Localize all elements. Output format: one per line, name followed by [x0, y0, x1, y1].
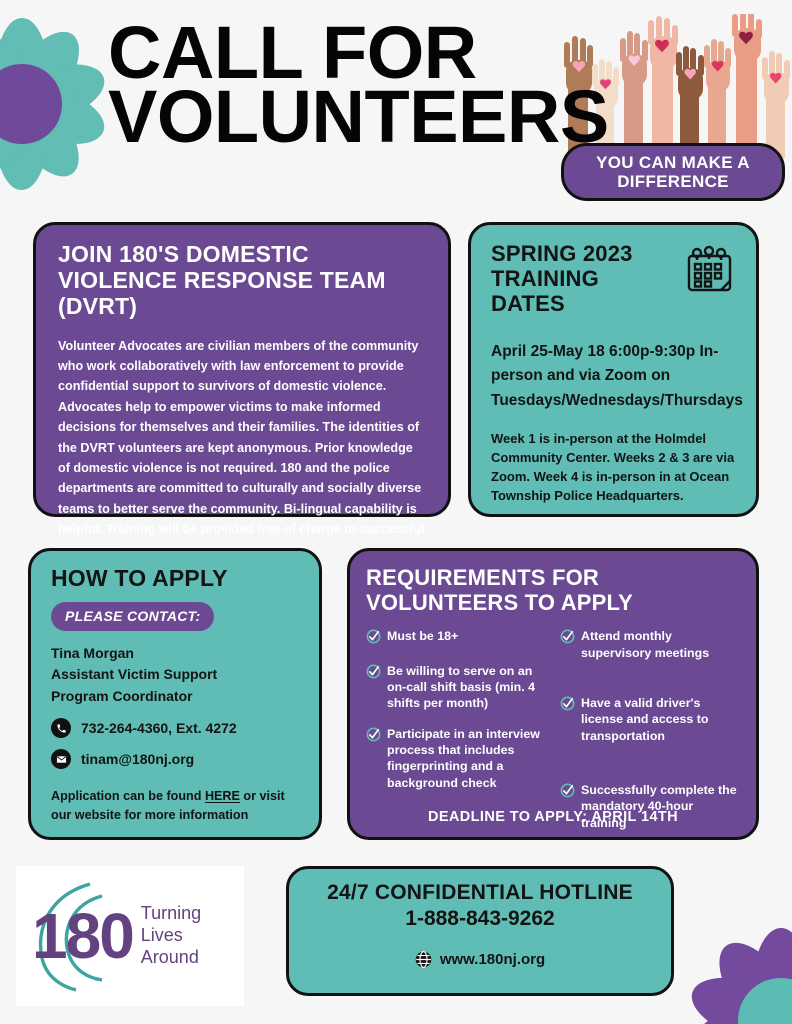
hotline-card: 24/7 CONFIDENTIAL HOTLINE 1-888-843-9262… — [286, 866, 674, 996]
requirement-item: Attend monthly supervisory meetings — [560, 628, 740, 661]
volunteer-flyer: CALL FOR VOLUNTEERS — [0, 0, 792, 1024]
application-link[interactable]: HERE — [205, 789, 240, 803]
check-circle-icon — [560, 783, 575, 802]
requirements-card: REQUIREMENTS FOR VOLUNTEERS TO APPLY Mus… — [347, 548, 759, 840]
apply-title: HOW TO APPLY — [51, 565, 299, 591]
teal-flower-decoration — [0, 18, 108, 190]
calendar-icon — [684, 245, 736, 300]
dvrt-card: JOIN 180'S DOMESTIC VIOLENCE RESPONSE TE… — [33, 222, 451, 517]
email-address: tinam@180nj.org — [81, 751, 194, 767]
please-contact-pill: PLEASE CONTACT: — [51, 602, 214, 631]
badge-line-2: DIFFERENCE — [617, 172, 729, 191]
logo-number: 180 — [32, 904, 133, 968]
contact-person-name: Tina Morgan — [51, 643, 299, 664]
phone-icon — [51, 718, 71, 738]
hotline-title: 24/7 CONFIDENTIAL HOTLINE — [299, 881, 661, 905]
training-schedule: April 25-May 18 6:00p-9:30p In-person an… — [491, 340, 736, 413]
check-circle-icon — [560, 696, 575, 715]
globe-icon — [415, 951, 432, 968]
phone-row[interactable]: 732-264-4360, Ext. 4272 — [51, 718, 299, 738]
check-circle-icon — [366, 727, 381, 746]
contact-details: Tina Morgan Assistant Victim Support Pro… — [51, 643, 299, 707]
check-circle-icon — [366, 664, 381, 683]
hotline-number: 1-888-843-9262 — [299, 907, 661, 931]
contact-job-title-line-1: Assistant Victim Support — [51, 664, 299, 685]
purple-flower-decoration — [688, 928, 792, 1024]
application-note-before: Application can be found — [51, 789, 205, 803]
requirement-text: Attend monthly supervisory meetings — [581, 628, 740, 661]
requirement-text: Must be 18+ — [387, 628, 458, 644]
deadline-text: DEADLINE TO APPLY: APRIL 14TH — [350, 809, 756, 825]
requirement-text: Be willing to serve on an on-call shift … — [387, 663, 546, 712]
check-circle-icon — [366, 629, 381, 648]
contact-job-title-line-2: Program Coordinator — [51, 686, 299, 707]
requirement-item: Participate in an interview process that… — [366, 726, 546, 792]
difference-badge: YOU CAN MAKE A DIFFERENCE — [561, 143, 785, 201]
requirement-item: Be willing to serve on an on-call shift … — [366, 663, 546, 712]
badge-line-1: YOU CAN MAKE A — [596, 153, 750, 172]
dvrt-title: JOIN 180'S DOMESTIC VIOLENCE RESPONSE TE… — [58, 241, 426, 320]
page-title: CALL FOR VOLUNTEERS — [108, 18, 578, 151]
requirement-text: Participate in an interview process that… — [387, 726, 546, 792]
title-line-2: VOLUNTEERS — [108, 82, 578, 152]
phone-number: 732-264-4360, Ext. 4272 — [81, 720, 237, 736]
website-url: www.180nj.org — [440, 951, 545, 968]
application-note: Application can be found HERE or visit o… — [51, 787, 299, 825]
how-to-apply-card: HOW TO APPLY PLEASE CONTACT: Tina Morgan… — [28, 548, 322, 840]
requirements-title: REQUIREMENTS FOR VOLUNTEERS TO APPLY — [366, 565, 740, 615]
envelope-icon — [51, 749, 71, 769]
dvrt-body-text: Volunteer Advocates are civilian members… — [58, 336, 426, 560]
training-dates-card: SPRING 2023 TRAINING DATES April 25-May … — [468, 222, 759, 517]
180-logo: 180 Turning Lives Around — [16, 866, 244, 1006]
email-row[interactable]: tinam@180nj.org — [51, 749, 299, 769]
website-row[interactable]: www.180nj.org — [299, 951, 661, 968]
requirement-item: Must be 18+ — [366, 628, 546, 648]
training-title: SPRING 2023 TRAINING DATES — [491, 241, 676, 316]
requirement-text: Have a valid driver's license and access… — [581, 695, 740, 744]
requirement-item: Have a valid driver's license and access… — [560, 695, 740, 744]
training-location-note: Week 1 is in-person at the Holmdel Commu… — [491, 429, 736, 506]
check-circle-icon — [560, 629, 575, 648]
